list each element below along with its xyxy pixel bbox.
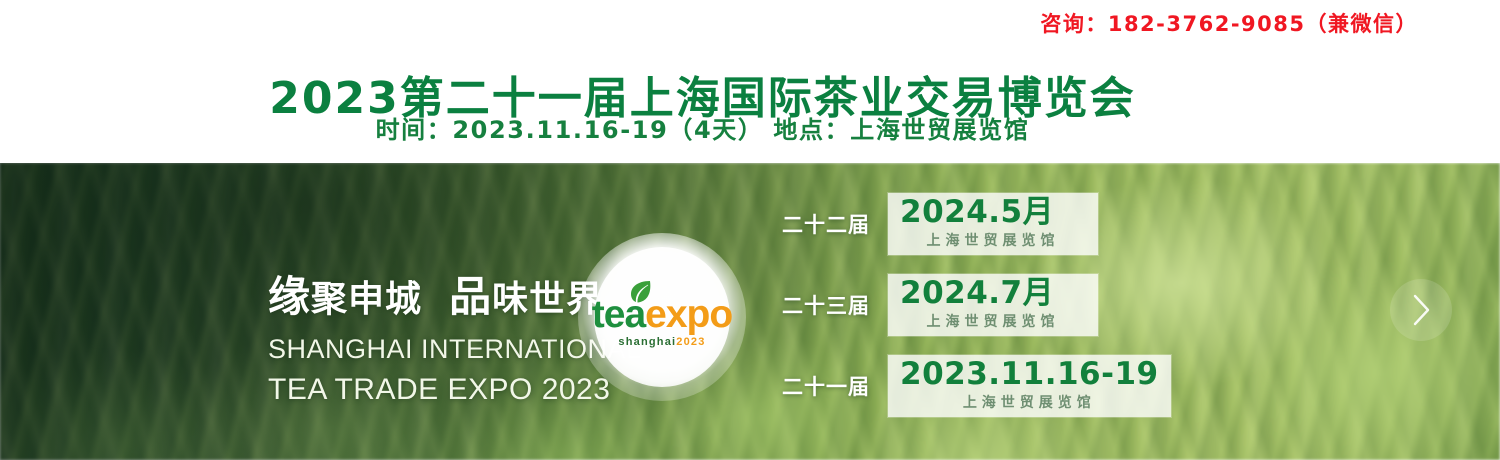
- edition-date: 2024.5月: [900, 196, 1086, 229]
- logo-word-expo: expo: [645, 293, 732, 336]
- edition-row[interactable]: 二十二届 2024.5月 上海世贸展览馆: [782, 193, 1098, 255]
- edition-card[interactable]: 2023.11.16-19 上海世贸展览馆: [888, 355, 1171, 417]
- slogan-english-line-2: TEA TRADE EXPO 2023: [268, 373, 568, 407]
- contact-phone-text: 咨询：182-3762-9085（兼微信）: [1040, 8, 1418, 38]
- hero-banner-carousel[interactable]: 缘聚申城 品味世界 SHANGHAI INTERNATIONAL TEA TRA…: [0, 163, 1500, 460]
- logo-subtext-city: shanghai: [618, 336, 676, 348]
- edition-ordinal: 二十三届: [782, 290, 888, 320]
- logo-word-tea: tea: [592, 293, 645, 336]
- page-header: 咨询：182-3762-9085（兼微信） 2023第二十一届上海国际茶业交易博…: [0, 0, 1500, 163]
- event-datetime-venue-line: 时间：2023.11.16-19（4天） 地点：上海世贸展览馆: [0, 110, 1405, 145]
- edition-venue: 上海世贸展览馆: [900, 311, 1086, 331]
- edition-date: 2023.11.16-19: [900, 358, 1159, 391]
- carousel-next-button[interactable]: [1390, 279, 1452, 341]
- tea-field-photo: [0, 163, 1500, 460]
- banner-slogan-block: 缘聚申城 品味世界 SHANGHAI INTERNATIONAL TEA TRA…: [268, 263, 568, 407]
- edition-venue: 上海世贸展览馆: [900, 230, 1086, 250]
- edition-ordinal: 二十二届: [782, 209, 888, 239]
- chevron-right-icon: [1410, 293, 1432, 327]
- edition-row[interactable]: 二十一届 2023.11.16-19 上海世贸展览馆: [782, 355, 1171, 417]
- edition-venue: 上海世贸展览馆: [900, 392, 1159, 412]
- slogan-char-yuan: 缘: [268, 272, 311, 321]
- slogan-char-pin: 品: [449, 272, 492, 321]
- logo-subtext-year: 2023: [676, 336, 705, 348]
- edition-card[interactable]: 2024.7月 上海世贸展览馆: [888, 274, 1098, 336]
- edition-ordinal: 二十一届: [782, 371, 888, 401]
- logo-word-row: teaexpo: [578, 295, 746, 334]
- edition-row[interactable]: 二十三届 2024.7月 上海世贸展览馆: [782, 274, 1098, 336]
- edition-date: 2024.7月: [900, 277, 1086, 310]
- teaexpo-logo: teaexpo shanghai2023: [578, 233, 746, 401]
- logo-wordmark: teaexpo shanghai2023: [578, 295, 746, 348]
- edition-card[interactable]: 2024.5月 上海世贸展览馆: [888, 193, 1098, 255]
- page-root: 咨询：182-3762-9085（兼微信） 2023第二十一届上海国际茶业交易博…: [0, 0, 1500, 460]
- slogan-english-line-1: SHANGHAI INTERNATIONAL: [268, 334, 568, 365]
- logo-subtext: shanghai2023: [578, 336, 746, 348]
- slogan-text-jushencheng: 聚申城: [311, 279, 422, 320]
- slogan-chinese: 缘聚申城 品味世界: [268, 263, 568, 324]
